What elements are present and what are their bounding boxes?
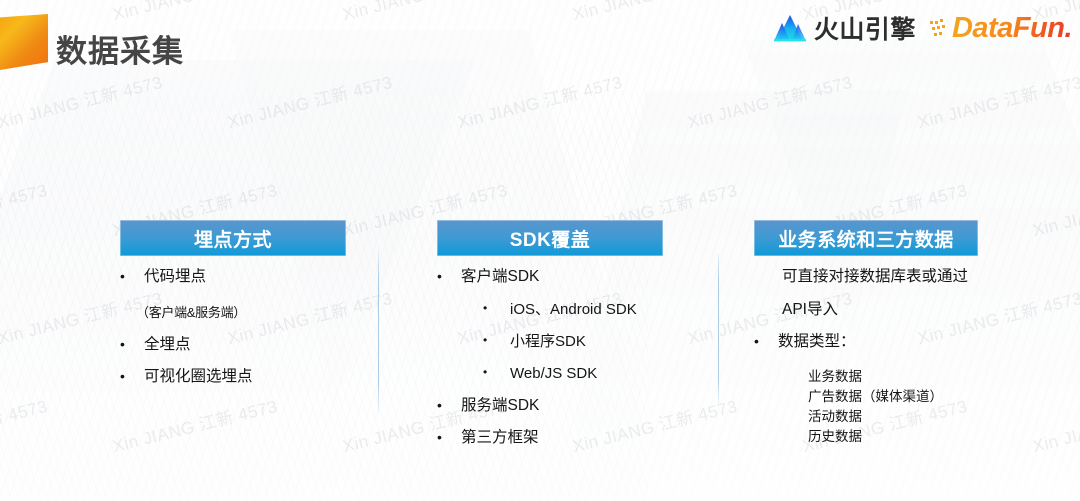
list-item-label: 数据类型： — [770, 334, 978, 350]
list-item-label: 小程序SDK — [497, 334, 663, 349]
column-body-tracking-methods: •代码埋点（客户端&服务端）•全埋点•可视化圈选埋点 — [120, 269, 346, 385]
bullet-icon: • — [120, 337, 136, 352]
list-item: •可视化圈选埋点 — [120, 369, 346, 385]
list-item: •服务端SDK — [437, 398, 663, 414]
slide-canvas: Xin JIANG 江新 4573Xin JIANG 江新 4573Xin JI… — [0, 0, 1080, 501]
list-item-label: iOS、Android SDK — [497, 302, 663, 317]
column-sdk-coverage: SDK覆盖 •客户端SDK•iOS、Android SDK•小程序SDK•Web… — [437, 220, 663, 463]
list-item-label: 第三方框架 — [453, 430, 663, 446]
list-item-detail: 业务数据 — [754, 367, 978, 387]
bullet-icon: • — [437, 398, 453, 413]
list-item-label: 代码埋点 — [136, 269, 346, 285]
bullet-icon: • — [754, 334, 770, 349]
logo-group: 火山引擎 DataFun. — [773, 8, 1072, 48]
logo-volcano-engine: 火山引擎 — [773, 10, 916, 46]
list-item-label: Web/JS SDK — [497, 366, 663, 381]
column-tracking-methods: 埋点方式 •代码埋点（客户端&服务端）•全埋点•可视化圈选埋点 — [120, 220, 346, 402]
list-item: •代码埋点 — [120, 269, 346, 285]
mountain-icon — [773, 14, 807, 42]
logo-datafun-text: DataFun. — [952, 12, 1072, 45]
list-item-detail: 广告数据（媒体渠道） — [754, 387, 978, 407]
list-item-sub: •小程序SDK — [437, 334, 663, 349]
accent-parallelogram-icon — [0, 14, 48, 70]
list-item-label: 客户端SDK — [453, 269, 663, 285]
logo-volcano-engine-text: 火山引擎 — [814, 10, 916, 46]
bullet-icon: • — [483, 366, 497, 379]
logo-datafun: DataFun. — [930, 12, 1072, 45]
list-item-note: （客户端&服务端） — [120, 302, 346, 321]
column-header-tracking-methods: 埋点方式 — [120, 220, 346, 256]
column-business-third-party-data: 业务系统和三方数据 可直接对接数据库表或通过API导入•数据类型：业务数据广告数… — [754, 220, 978, 448]
slide-header: 数据采集 — [0, 0, 1080, 86]
bullet-icon: • — [483, 334, 497, 347]
dots-icon — [930, 16, 950, 40]
bullet-icon: • — [120, 269, 136, 284]
bullet-icon: • — [483, 302, 497, 315]
list-item: •第三方框架 — [437, 430, 663, 446]
bullet-icon: • — [120, 369, 136, 384]
list-item-detail: 历史数据 — [754, 427, 978, 447]
column-header-business-third-party-data: 业务系统和三方数据 — [754, 220, 978, 256]
list-item-label: 可视化圈选埋点 — [136, 369, 346, 385]
list-item-sub: •iOS、Android SDK — [437, 302, 663, 317]
column-body-business-third-party-data: 可直接对接数据库表或通过API导入•数据类型：业务数据广告数据（媒体渠道）活动数… — [754, 269, 978, 448]
list-item: •全埋点 — [120, 337, 346, 353]
list-item-sub: •Web/JS SDK — [437, 366, 663, 381]
column-header-sdk-coverage: SDK覆盖 — [437, 220, 663, 256]
paragraph-line: 可直接对接数据库表或通过 — [754, 269, 978, 285]
list-item-detail: 活动数据 — [754, 407, 978, 427]
paragraph-line: API导入 — [754, 302, 978, 318]
bullet-icon: • — [437, 269, 453, 284]
list-item: •数据类型： — [754, 334, 978, 350]
column-body-sdk-coverage: •客户端SDK•iOS、Android SDK•小程序SDK•Web/JS SD… — [437, 269, 663, 446]
list-item-label: 服务端SDK — [453, 398, 663, 414]
bullet-icon: • — [437, 430, 453, 445]
list-item-label: 全埋点 — [136, 337, 346, 353]
page-title: 数据采集 — [56, 26, 184, 71]
list-item: •客户端SDK — [437, 269, 663, 285]
